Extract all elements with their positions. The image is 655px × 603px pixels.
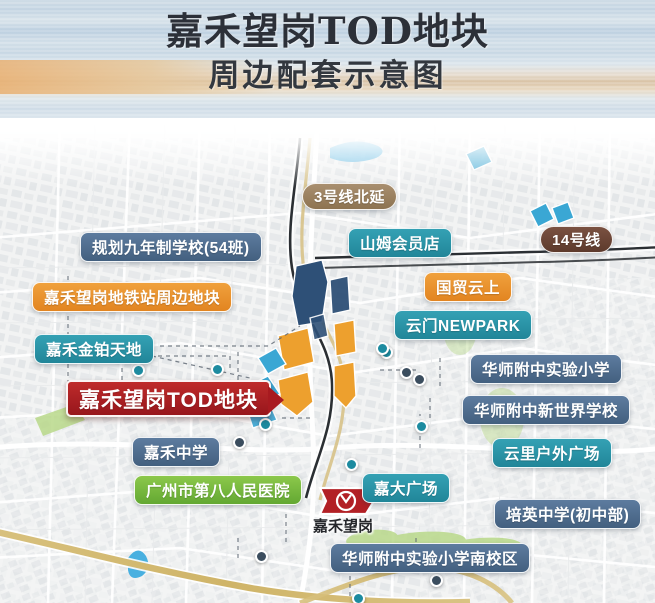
poi-label-sams-club[interactable]: 山姆会员店 [348,228,452,258]
poi-label-yunmen-newpark[interactable]: 云门NEWPARK [394,310,532,340]
poi-label-hsfz-experimental-primary-south[interactable]: 华师附中实验小学南校区 [330,543,530,573]
title-block: 嘉禾望岗TOD地块 周边配套示意图 [0,10,655,96]
poi-label-peiying-middle-school-junior[interactable]: 培英中学(初中部) [494,499,641,529]
poi-label-hsfz-new-world-school[interactable]: 华师附中新世界学校 [462,395,630,425]
poi-label-jiahe-middle-school[interactable]: 嘉禾中学 [132,437,220,467]
map-marker-dot[interactable] [352,592,365,603]
map-marker-dot[interactable] [376,342,389,355]
poi-label-jiahewanggang-tod-plot[interactable]: 嘉禾望岗TOD地块 [66,380,271,417]
map-marker-dot[interactable] [132,364,145,377]
poi-label-yunli-outdoor-plaza[interactable]: 云里户外广场 [492,438,612,468]
map-marker-dot[interactable] [259,418,272,431]
poster-root: 嘉禾望岗TOD地块 周边配套示意图 [0,0,655,603]
map-marker-dot[interactable] [400,366,413,379]
poster-header: 嘉禾望岗TOD地块 周边配套示意图 [0,0,655,128]
map-marker-dot[interactable] [413,373,426,386]
map-marker-dot[interactable] [233,436,246,449]
poi-label-guangzhou-eighth-peoples-hospital[interactable]: 广州市第八人民医院 [134,475,302,505]
metro-line-14-label[interactable]: 14号线 [540,226,613,253]
map-canvas[interactable]: 嘉禾望岗 广佛肇高速 3号线北延 14号线 规划九年制学校(54班) 嘉禾望岗地… [0,118,655,603]
poi-label-guomao-yunshang[interactable]: 国贸云上 [424,272,512,302]
poi-label-hsfz-experimental-primary[interactable]: 华师附中实验小学 [470,354,622,384]
poi-label-planned-nine-year-school[interactable]: 规划九年制学校(54班) [80,232,262,262]
poi-label-jiada-plaza[interactable]: 嘉大广场 [362,473,450,503]
map-marker-dot[interactable] [345,458,358,471]
poi-label-jiahewanggang-metro-surrounding-plot[interactable]: 嘉禾望岗地铁站周边地块 [32,282,232,312]
page-title: 嘉禾望岗TOD地块 [0,10,655,54]
map-marker-dot[interactable] [430,574,443,587]
map-marker-dot[interactable] [255,550,268,563]
metro-line-3-label[interactable]: 3号线北延 [302,183,397,210]
station-name-label: 嘉禾望岗 [313,515,373,536]
map-marker-dot[interactable] [415,420,428,433]
map-marker-dot[interactable] [211,363,224,376]
page-subtitle: 周边配套示意图 [0,56,655,96]
poi-label-jiahe-jinbo-tiandi[interactable]: 嘉禾金铂天地 [34,334,154,364]
